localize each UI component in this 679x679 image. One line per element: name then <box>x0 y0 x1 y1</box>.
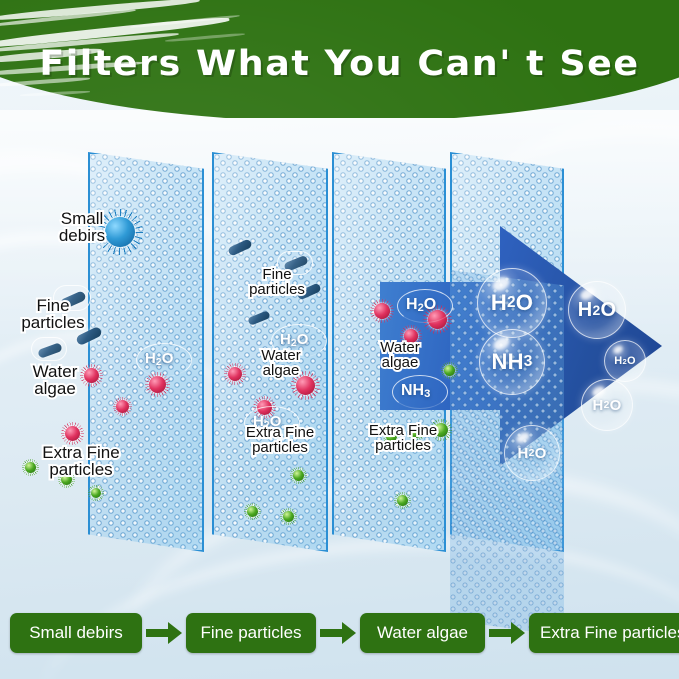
label-extra-fine-particles: Extra Fine particles <box>352 423 454 454</box>
spiky-green-particle-icon <box>91 488 101 498</box>
label-small-debris: Small debirs <box>34 210 130 245</box>
filter-stage: H2O H2O H2O H2O NH3 <box>0 118 679 588</box>
ammonia-molecule-label: NH3 <box>401 382 430 400</box>
water-bubble-icon: H2O <box>604 340 646 382</box>
spiky-green-particle-icon <box>397 495 408 506</box>
poster-root: Filters What You Can' t See H2O <box>0 0 679 679</box>
arrow-tip <box>342 622 356 644</box>
label-water-algae: Water algae <box>360 340 440 371</box>
flow-step-small-debris[interactable]: Small debirs <box>10 613 142 653</box>
page-title: Filters What You Can' t See <box>0 44 679 84</box>
flow-step-extra-fine-particles[interactable]: Extra Fine particles <box>529 613 679 653</box>
header-banner: Filters What You Can' t See <box>0 0 679 118</box>
spiky-red-algae-icon <box>374 303 390 319</box>
arrow-tip <box>168 622 182 644</box>
arrow-right-icon <box>142 622 186 644</box>
flow-step-fine-particles[interactable]: Fine particles <box>186 613 316 653</box>
arrow-right-icon <box>485 622 529 644</box>
label-water-algae: Water algae <box>240 348 322 379</box>
spiky-green-particle-icon <box>444 365 455 376</box>
label-extra-fine-particles: Extra Fine particles <box>228 425 332 456</box>
label-fine-particles: Fine particles <box>232 267 322 298</box>
spiky-green-particle-icon <box>247 506 258 517</box>
bubble-ring-icon <box>31 337 67 361</box>
water-bubble-icon: H2O <box>581 379 633 431</box>
water-bubble-icon: H2O <box>477 268 547 338</box>
ammonia-bubble-icon: NH3 <box>479 329 545 395</box>
label-fine-particles: Fine particles <box>4 297 102 332</box>
arrow-right-icon <box>316 622 360 644</box>
spiky-green-particle-icon <box>283 511 294 522</box>
water-bubble-icon: H2O <box>568 281 626 339</box>
water-molecule-label: H2O <box>145 350 173 368</box>
arrow-tip <box>511 622 525 644</box>
spiky-red-algae-icon <box>116 400 129 413</box>
label-extra-fine-particles: Extra Fine particles <box>24 444 138 479</box>
spiky-red-algae-icon <box>149 376 166 393</box>
flow-step-water-algae[interactable]: Water algae <box>360 613 485 653</box>
water-bubble-icon: H2O <box>504 425 560 481</box>
water-molecule-label: H2O <box>406 296 436 314</box>
process-flow: Small debirs Fine particles Water algae … <box>0 587 679 679</box>
label-water-algae: Water algae <box>10 363 100 398</box>
spiky-red-algae-icon <box>65 426 80 441</box>
spiky-green-particle-icon <box>293 470 304 481</box>
